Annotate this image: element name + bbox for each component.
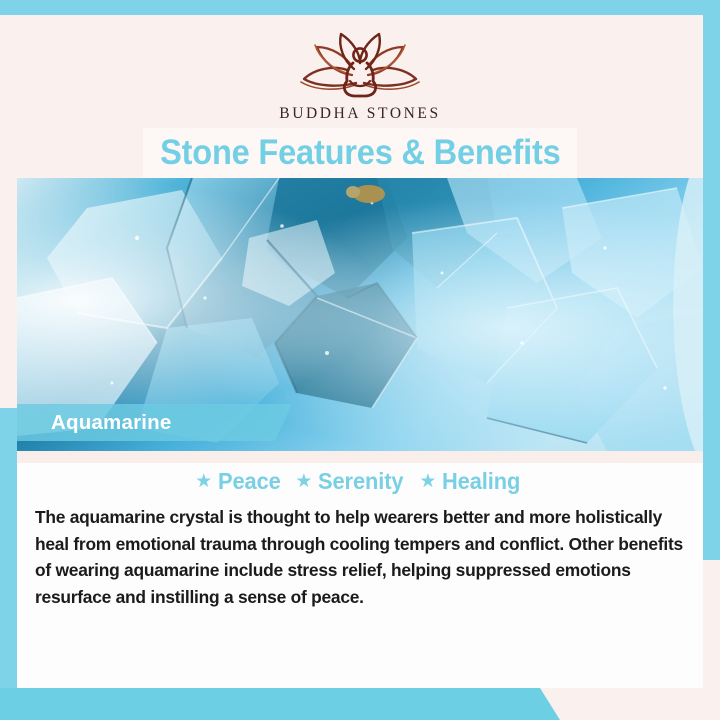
stone-content-panel: ★ Peace ★ Serenity ★ Healing The aquamar…	[17, 463, 703, 688]
benefit-item-healing: ★ Healing	[419, 468, 524, 495]
decorative-band-left	[0, 408, 17, 720]
decorative-band-bottom	[0, 688, 560, 720]
decorative-band-top	[0, 0, 720, 15]
benefit-label-healing: Healing	[442, 468, 520, 495]
lotus-meditation-icon	[284, 25, 436, 101]
star-icon: ★	[195, 472, 212, 491]
title-banner: Stone Features & Benefits	[143, 128, 577, 178]
benefit-item-serenity: ★ Serenity	[295, 468, 408, 495]
stone-description: The aquamarine crystal is thought to hel…	[35, 504, 685, 610]
benefit-item-peace: ★ Peace	[195, 468, 284, 495]
benefits-row: ★ Peace ★ Serenity ★ Healing	[17, 463, 703, 495]
stone-name-label: Aquamarine	[51, 411, 171, 435]
benefit-label-serenity: Serenity	[318, 468, 403, 495]
brand-logo: BUDDHA STONES	[17, 25, 703, 123]
stone-features-poster: BUDDHA STONES Stone Features & Benefits	[0, 0, 720, 720]
stone-name-ribbon: Aquamarine	[17, 404, 292, 441]
star-icon: ★	[295, 472, 312, 491]
photo-divider	[17, 451, 703, 463]
star-icon: ★	[419, 472, 436, 491]
page-title: Stone Features & Benefits	[160, 133, 561, 173]
brand-name: BUDDHA STONES	[17, 105, 703, 123]
benefit-label-peace: Peace	[218, 468, 281, 495]
decorative-band-right	[703, 0, 720, 560]
